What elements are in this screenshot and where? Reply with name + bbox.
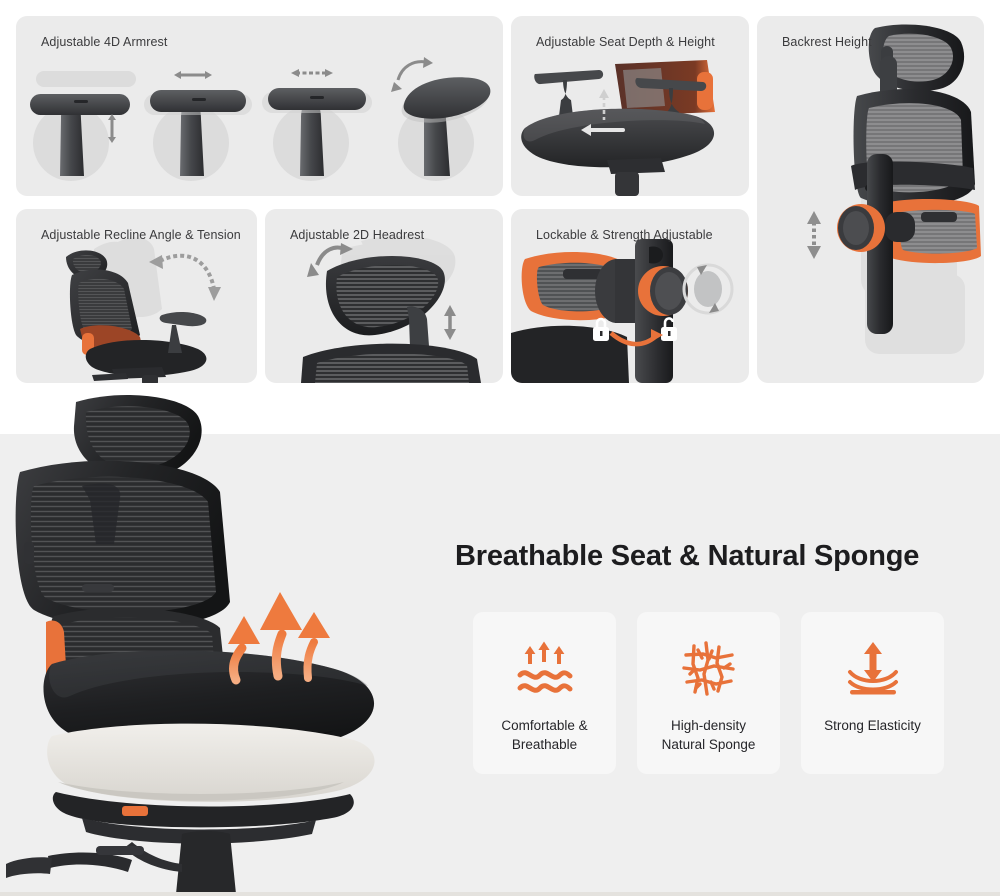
chair-backrest: [16, 461, 230, 628]
up-down-arrow-icon: [807, 211, 821, 259]
rotate-dial-icon: [684, 265, 732, 313]
feature-title-line2: Natural Sponge: [662, 737, 756, 752]
panel-label-seat-depth: Adjustable Seat Depth & Height: [536, 35, 715, 49]
chair-sponge-layer: [47, 724, 374, 802]
feature-card-comfortable-breathable: Comfortable & Breathable: [473, 612, 616, 774]
product-infographic-page: Adjustable 4D Armrest: [0, 0, 1000, 896]
panel-label-lockable: Lockable & Strength Adjustable: [536, 228, 713, 242]
panel-label-armrest: Adjustable 4D Armrest: [41, 35, 167, 49]
panel-lockable-strength-adjustable: Lockable & Strength Adjustable: [511, 209, 749, 383]
armrest-unit-vertical: [30, 71, 136, 181]
panel-label-backrest: Backrest Height: [782, 35, 872, 49]
up-arrows: [524, 642, 564, 665]
panel-backrest-height: Backrest Height: [757, 16, 984, 383]
chair-product-photo: [0, 394, 456, 894]
panel-adjustable-recline-angle-tension: Adjustable Recline Angle & Tension: [16, 209, 257, 383]
feature-card-strong-elasticity: Strong Elasticity: [801, 612, 944, 774]
double-arrow: [864, 642, 882, 682]
section-headline: Breathable Seat & Natural Sponge: [455, 540, 919, 573]
feature-title-line2: Breathable: [512, 737, 577, 752]
armrest-unit-pivot: [391, 57, 490, 181]
up-down-arrow-icon: [444, 305, 456, 340]
panel-adjustable-4d-armrest: Adjustable 4D Armrest: [16, 16, 503, 196]
backrest-height-illustration: [757, 16, 984, 383]
breathable-seat-section: Breathable Seat & Natural Sponge: [0, 434, 1000, 892]
feature-title-line1: High-density: [671, 718, 746, 733]
armrest-unit-horizontal-1: [144, 71, 252, 181]
feature-card-list: Comfortable & Breathable: [473, 612, 944, 774]
next-section-edge: [0, 892, 1000, 896]
feature-title-line1: Strong Elasticity: [824, 718, 921, 733]
breathable-waves-icon: [514, 638, 576, 700]
tension-knob: [638, 266, 688, 316]
panel-adjustable-seat-depth-height: Adjustable Seat Depth & Height: [511, 16, 749, 196]
panel-label-headrest: Adjustable 2D Headrest: [290, 228, 424, 242]
left-right-arrow-icon: [174, 71, 212, 79]
feature-card-title: Comfortable & Breathable: [495, 716, 593, 754]
feature-title-line1: Comfortable &: [501, 718, 587, 733]
chair-base-mechanism: [6, 792, 354, 894]
up-down-arrow-icon: [108, 114, 116, 143]
elasticity-arrow-icon: [842, 638, 904, 700]
sponge-mesh-icon: [678, 638, 740, 700]
panel-label-recline: Adjustable Recline Angle & Tension: [41, 228, 241, 242]
adjust-knob: [837, 204, 885, 252]
lock-closed-icon: [593, 319, 609, 341]
feature-card-title: Strong Elasticity: [818, 716, 927, 735]
feature-card-title: High-density Natural Sponge: [656, 716, 762, 754]
armrest-unit-horizontal-2: [262, 69, 372, 181]
feature-card-high-density-natural-sponge: High-density Natural Sponge: [637, 612, 780, 774]
panel-adjustable-2d-headrest: Adjustable 2D Headrest: [265, 209, 503, 383]
rotate-arrow-icon: [398, 62, 426, 80]
